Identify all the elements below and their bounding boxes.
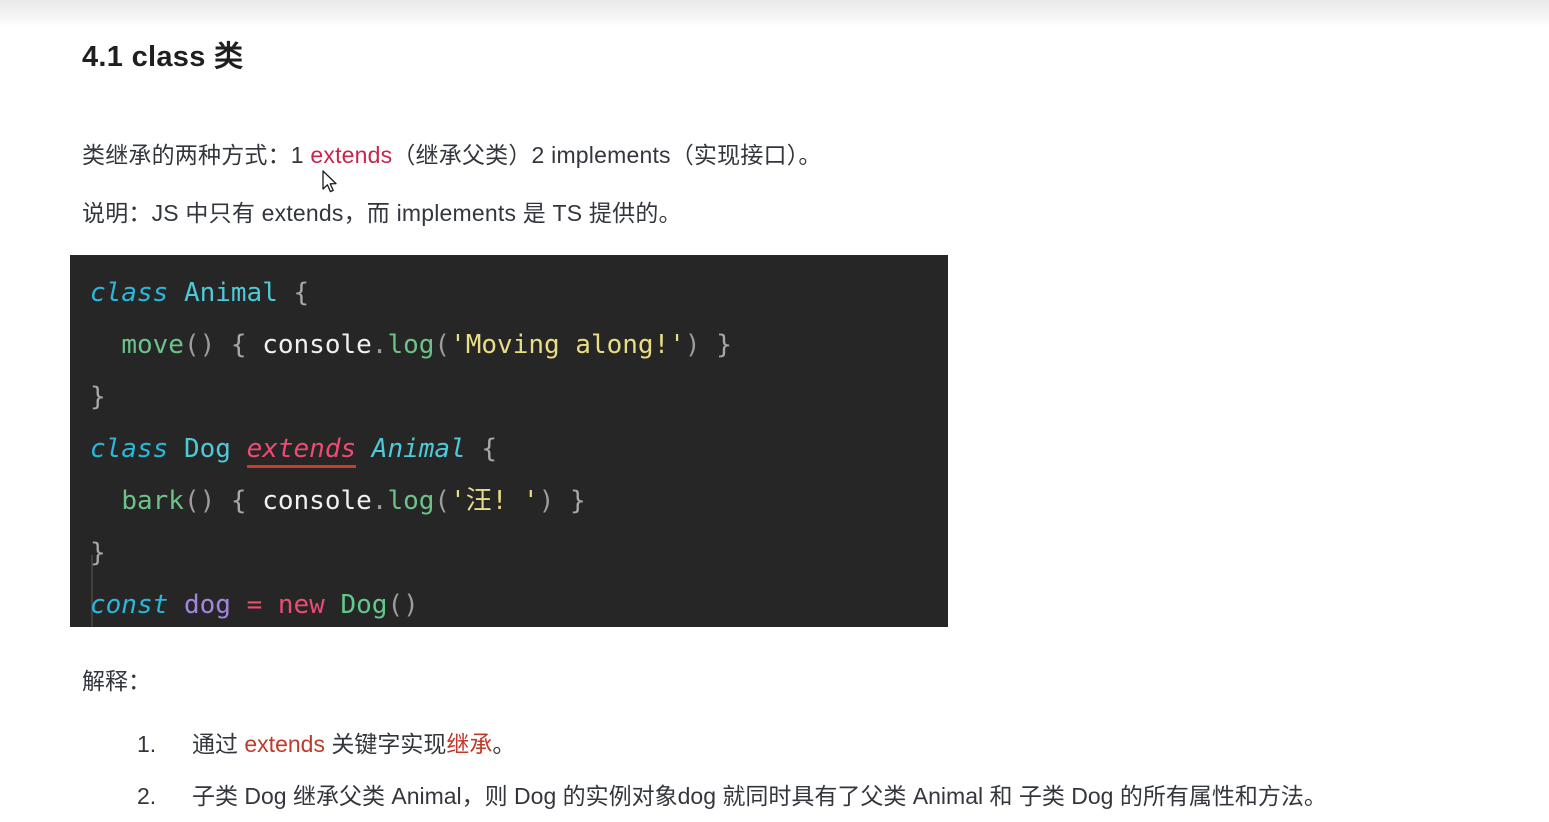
code-token-pink: new [278,590,325,620]
list-item-1-after: 。 [492,731,515,757]
code-token-plain [247,486,263,516]
list-item-1-keyword: extends [244,731,325,757]
list-marker: 2. [137,770,156,822]
list-item-2-text: 子类 Dog 继承父类 Animal，则 Dog 的实例对象dog 就同时具有了… [192,783,1327,809]
list-item-1-highlight: 继承 [446,731,492,757]
code-token-plain [247,330,263,360]
code-token-string: '汪! ' [450,486,539,516]
document-page: 4.1 class 类 类继承的两种方式：1 extends（继承父类）2 im… [0,0,1549,821]
code-token-punct: . [372,330,388,360]
code-token-plain [215,486,231,516]
code-token-object: console [262,330,372,360]
code-token-punct: () [387,590,418,620]
list-item: 2.子类 Dog 继承父类 Animal，则 Dog 的实例对象dog 就同时具… [82,770,1327,822]
code-line: bark() { console.log('汪! ') } [70,475,948,527]
code-token-object: console [262,486,372,516]
code-token-plain [466,434,482,464]
code-token-keyword-error: extends [247,434,357,464]
code-token-keyword: const [90,590,168,620]
code-token-keyword: class [90,434,168,464]
code-token-type: Animal [184,278,278,308]
code-token-brace: { [481,434,497,464]
paragraph-note: 说明：JS 中只有 extends，而 implements 是 TS 提供的。 [82,196,682,230]
list-item-1-middle: 关键字实现 [325,731,446,757]
code-token-property: log [387,486,434,516]
code-token-punct: ( [434,330,450,360]
code-token-function: bark [121,486,184,516]
paragraph-1-middle: （继承父类）2 implements（实现接口）。 [392,142,821,168]
code-token-plain [215,330,231,360]
code-token-punct: ) [539,486,555,516]
code-line: class Animal { [70,267,948,319]
code-block[interactable]: class Animal { move() { console.log('Mov… [70,255,948,627]
code-token-function2: Dog [341,590,388,620]
code-line: class Dog extends Animal { [70,423,948,475]
code-token-plain [262,590,278,620]
code-token-brace: } [716,330,732,360]
list-marker: 1. [137,718,156,770]
code-token-brace: } [570,486,586,516]
code-token-punct: () [184,486,215,516]
paragraph-inheritance-ways: 类继承的两种方式：1 extends（继承父类）2 implements（实现接… [82,138,822,172]
code-token-plain [90,486,121,516]
code-token-plain [168,434,184,464]
code-line: move() { console.log('Moving along!') } [70,319,948,371]
code-token-plain [325,590,341,620]
paragraph-1-keyword-extends: extends [310,142,392,168]
code-line: const dog = new Dog() [70,579,948,627]
explanation-list: 1.通过 extends 关键字实现继承。 2.子类 Dog 继承父类 Anim… [82,718,1327,822]
code-token-brace: { [231,330,247,360]
code-token-punct: ) [685,330,701,360]
code-line: } [70,371,948,423]
code-token-brace: { [231,486,247,516]
code-token-plain [168,278,184,308]
explanation-label: 解释： [82,662,151,696]
code-token-variable: dog [184,590,231,620]
code-token-punct: () [184,330,215,360]
list-item-1-before: 通过 [192,731,244,757]
code-token-plain [701,330,717,360]
code-token-punct: . [372,486,388,516]
error-underline [247,465,357,468]
code-token-type-italic: Animal [372,434,466,464]
code-lines-container: class Animal { move() { console.log('Mov… [70,267,948,627]
code-token-punct: ( [434,486,450,516]
code-token-keyword: class [90,278,168,308]
code-token-plain [231,434,247,464]
code-line: } [70,527,948,579]
mouse-cursor-icon [322,170,340,196]
code-token-property: log [387,330,434,360]
code-token-string: 'Moving along!' [450,330,685,360]
paragraph-1-before: 类继承的两种方式：1 [82,142,310,168]
code-token-plain [90,330,121,360]
code-token-type: Dog [184,434,231,464]
page-title: 4.1 class 类 [82,33,243,75]
code-token-brace: } [90,382,106,412]
code-token-plain [356,434,372,464]
code-token-function: move [121,330,184,360]
code-token-operator: = [247,590,263,620]
code-token-brace: } [90,538,106,568]
code-token-plain [554,486,570,516]
code-token-plain [278,278,294,308]
code-token-plain [231,590,247,620]
code-token-plain [168,590,184,620]
list-item: 1.通过 extends 关键字实现继承。 [82,718,1327,770]
code-token-brace: { [294,278,310,308]
